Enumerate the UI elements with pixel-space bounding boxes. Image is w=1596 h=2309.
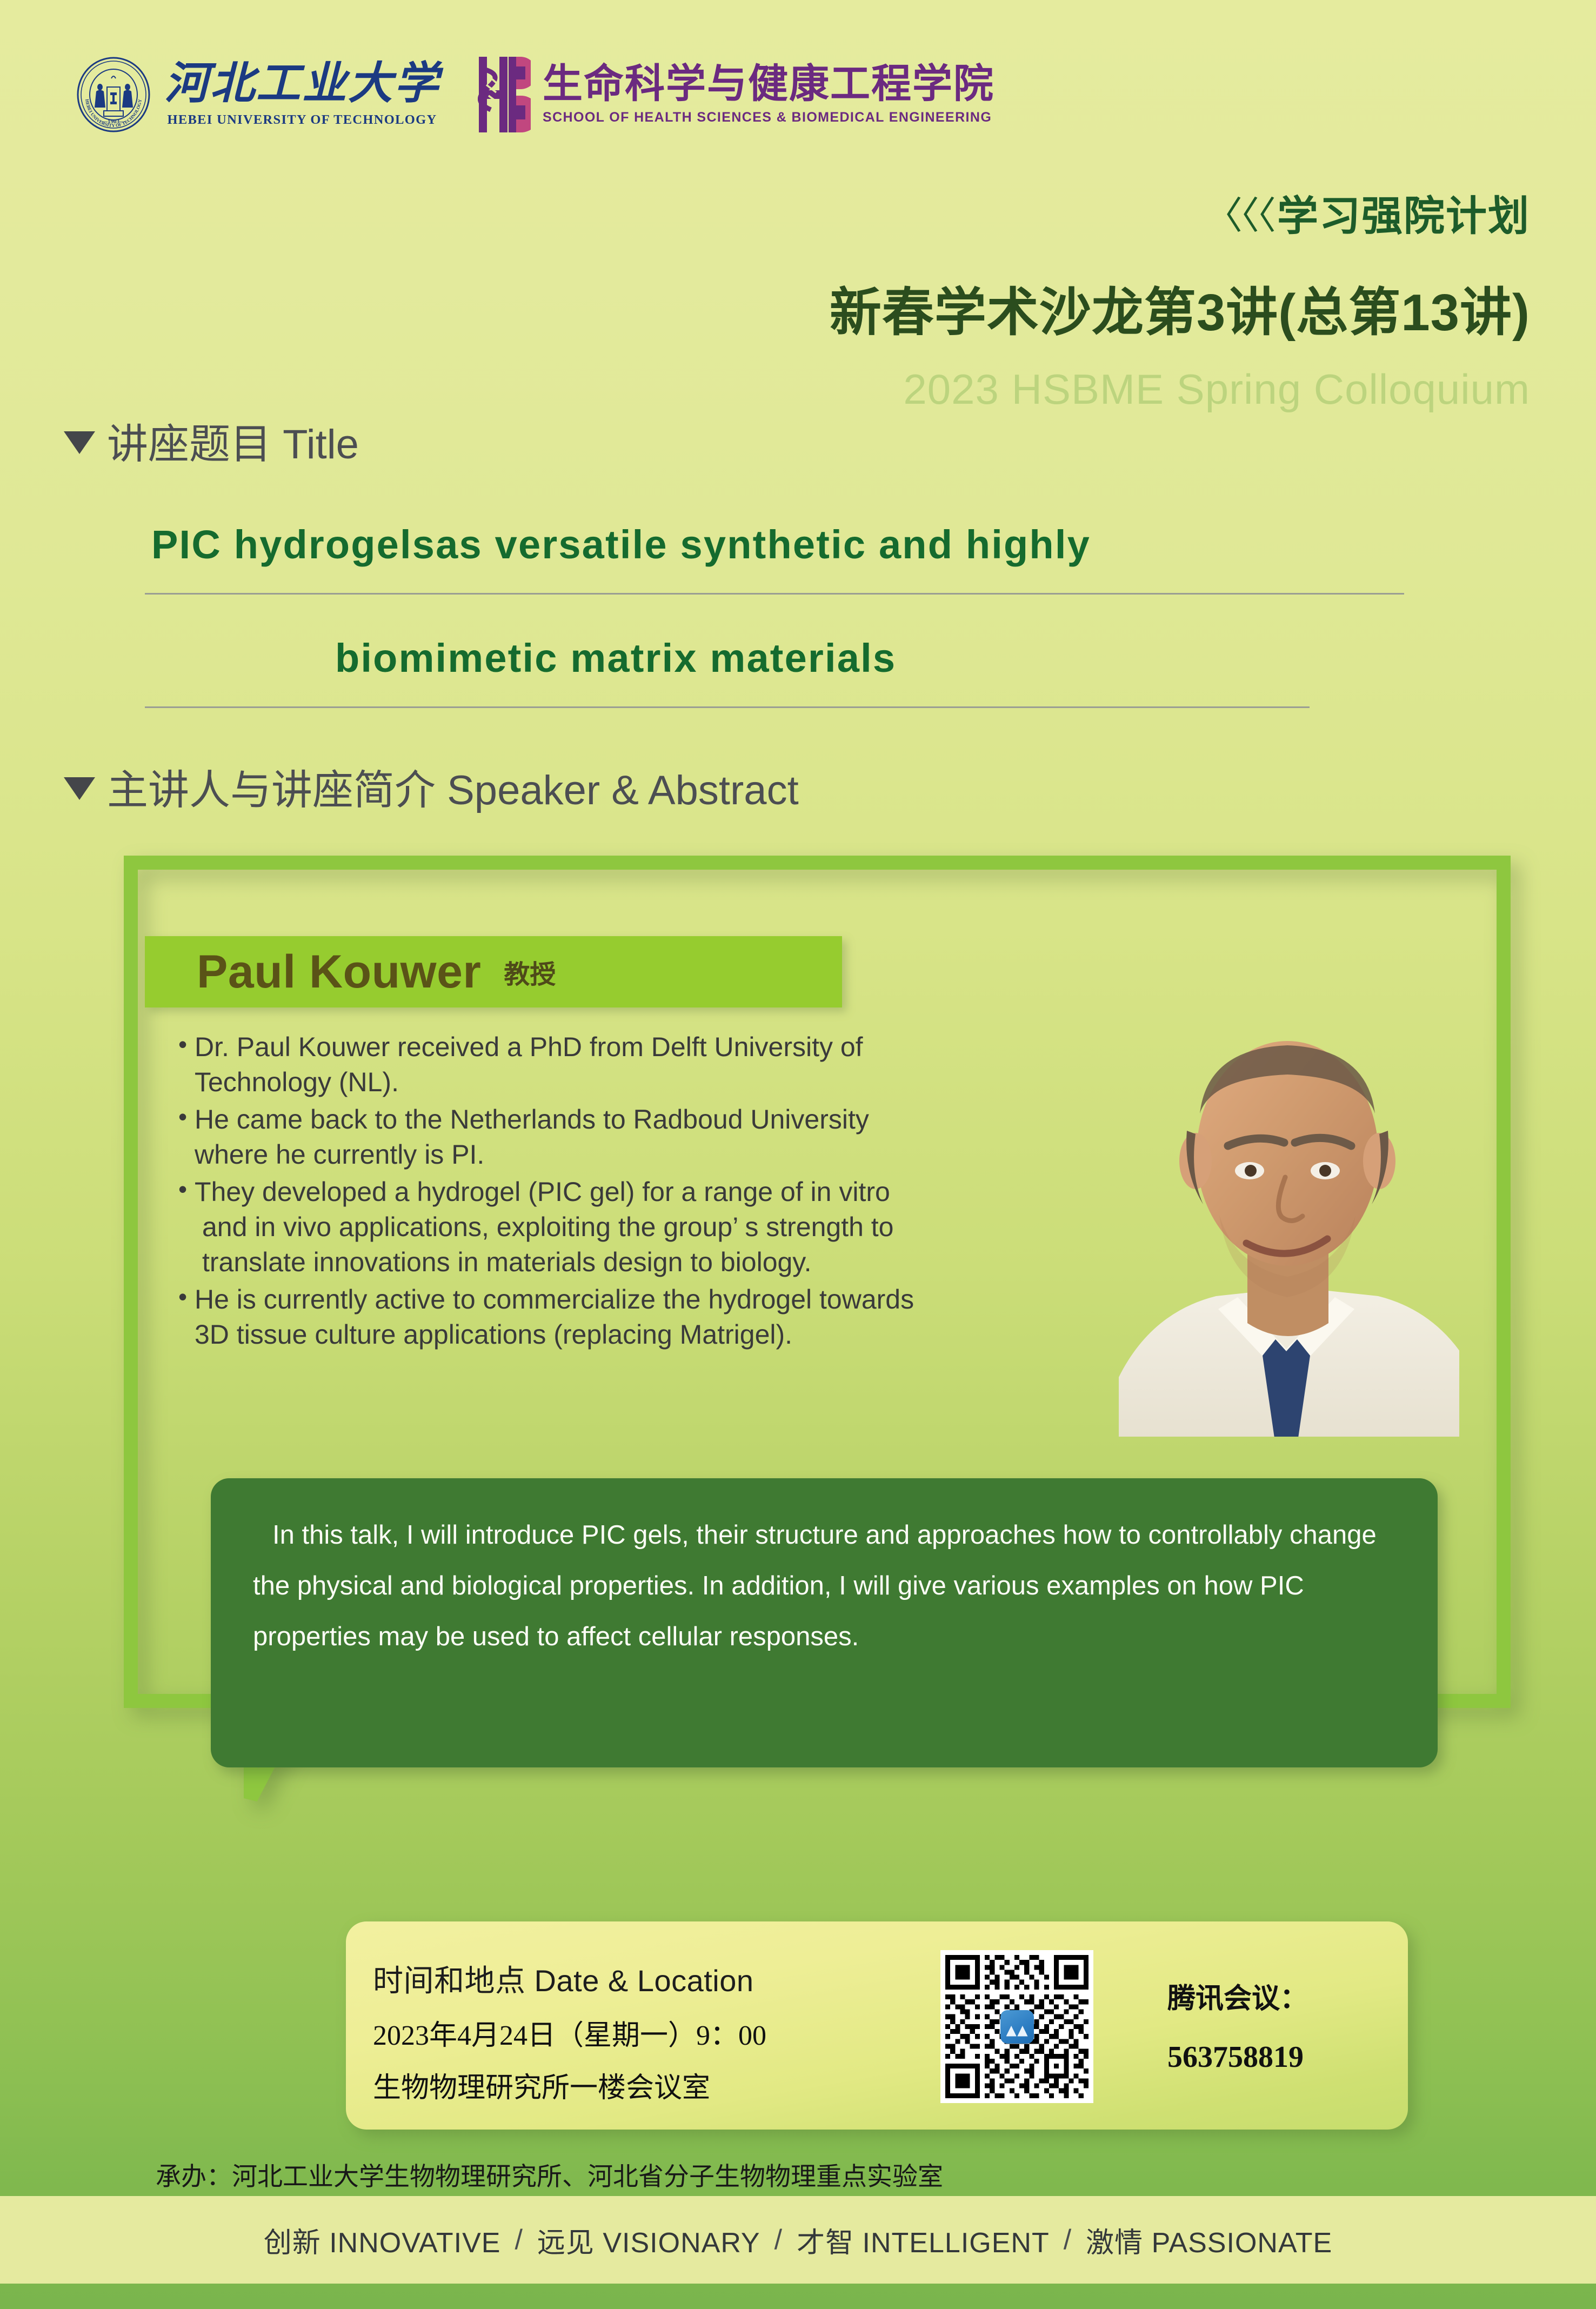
slogan-separator: / <box>515 2224 523 2256</box>
section-heading-title: 讲座题目 Title <box>64 411 359 470</box>
tencent-meeting-logo-icon <box>1000 2010 1034 2044</box>
header-logos: —1903— HEBEI UNIVERSITY OF TECHNOLOGY 河北… <box>76 51 994 138</box>
host-organizations: 承办：河北工业大学生物物理研究所、河北省分子生物物理重点实验室 <box>156 2155 943 2193</box>
list-item: Dr. Paul Kouwer received a PhD from Delf… <box>178 1030 1146 1100</box>
footer-slogan: 创新 INNOVATIVE / 远见 VISIONARY / 才智 INTELL… <box>0 2196 1596 2284</box>
list-item: They developed a hydrogel (PIC gel) for … <box>178 1174 1146 1280</box>
banner-subtitle: 2023 HSBME Spring Colloquium <box>903 365 1530 414</box>
abstract-box: In this talk, I will introduce PIC gels,… <box>211 1478 1438 1767</box>
university-name-block: 河北工业大学 HEBEI UNIVERSITY OF TECHNOLOGY <box>164 62 440 128</box>
speaker-rank: 教授 <box>504 953 556 991</box>
talk-title-line2: biomimetic matrix materials <box>335 635 896 681</box>
university-seal-icon: —1903— HEBEI UNIVERSITY OF TECHNOLOGY <box>76 57 151 132</box>
slogan-separator: / <box>1064 2224 1072 2256</box>
slogan-item-4: 激情 PASSIONATE <box>1086 2220 1332 2260</box>
school-name-en: SCHOOL OF HEALTH SCIENCES & BIOMEDICAL E… <box>543 110 994 125</box>
event-date: 2023年4月24日（星期一）9：00 <box>373 2012 766 2053</box>
meeting-label: 腾讯会议： <box>1167 1976 1308 2016</box>
slogan-item-3: 才智 INTELLIGENT <box>797 2220 1050 2260</box>
banner-main-title: 新春学术沙龙第3讲(总第13讲) <box>830 270 1530 345</box>
speaker-bio-list: Dr. Paul Kouwer received a PhD from Delf… <box>178 1030 1146 1354</box>
abstract-text: In this talk, I will introduce PIC gels,… <box>253 1510 1400 1662</box>
slogan-item-1: 创新 INNOVATIVE <box>264 2220 501 2260</box>
list-item: He came back to the Netherlands to Radbo… <box>178 1102 1146 1172</box>
speaker-portrait <box>1113 999 1459 1437</box>
chevron-left-icons: 〈〈〈 <box>1205 185 1274 240</box>
section-title-label: 讲座题目 Title <box>107 411 359 470</box>
qr-code[interactable] <box>940 1950 1093 2103</box>
hsb-monogram-icon <box>478 51 531 138</box>
list-item: He is currently active to commercialize … <box>178 1282 1146 1352</box>
talk-title-line1: PIC hydrogelsas versatile synthetic and … <box>151 522 1405 568</box>
meeting-info: 腾讯会议： 563758819 <box>1167 1976 1308 2074</box>
school-logo-block: 生命科学与健康工程学院 SCHOOL OF HEALTH SCIENCES & … <box>478 51 994 138</box>
date-location-heading: 时间和地点 Date & Location <box>373 1957 766 2000</box>
meeting-id: 563758819 <box>1167 2040 1308 2074</box>
talk-title-rule-2 <box>145 706 1310 708</box>
school-name-cn: 生命科学与健康工程学院 <box>543 64 994 104</box>
university-name-cn: 河北工业大学 <box>164 62 440 106</box>
banner-kicker-label: 学习强院计划 <box>1277 183 1530 242</box>
banner-kicker: 〈〈〈 学习强院计划 <box>1205 183 1530 242</box>
speaker-name: Paul Kouwer <box>197 945 481 999</box>
university-name-en: HEBEI UNIVERSITY OF TECHNOLOGY <box>168 112 437 128</box>
slogan-item-2: 远见 VISIONARY <box>537 2220 760 2260</box>
poster-root: —1903— HEBEI UNIVERSITY OF TECHNOLOGY 河北… <box>0 0 1596 2309</box>
triangle-down-icon <box>64 431 95 454</box>
triangle-down-icon <box>64 777 95 800</box>
talk-title-rule-1 <box>145 593 1404 595</box>
event-place: 生物物理研究所一楼会议室 <box>373 2065 766 2105</box>
section-heading-speaker: 主讲人与讲座简介 Speaker & Abstract <box>64 757 799 816</box>
speaker-name-bar: Paul Kouwer 教授 <box>145 936 842 1007</box>
slogan-separator: / <box>774 2224 783 2256</box>
date-location-text: 时间和地点 Date & Location 2023年4月24日（星期一）9：0… <box>373 1957 766 2105</box>
section-speaker-label: 主讲人与讲座简介 Speaker & Abstract <box>107 757 799 816</box>
